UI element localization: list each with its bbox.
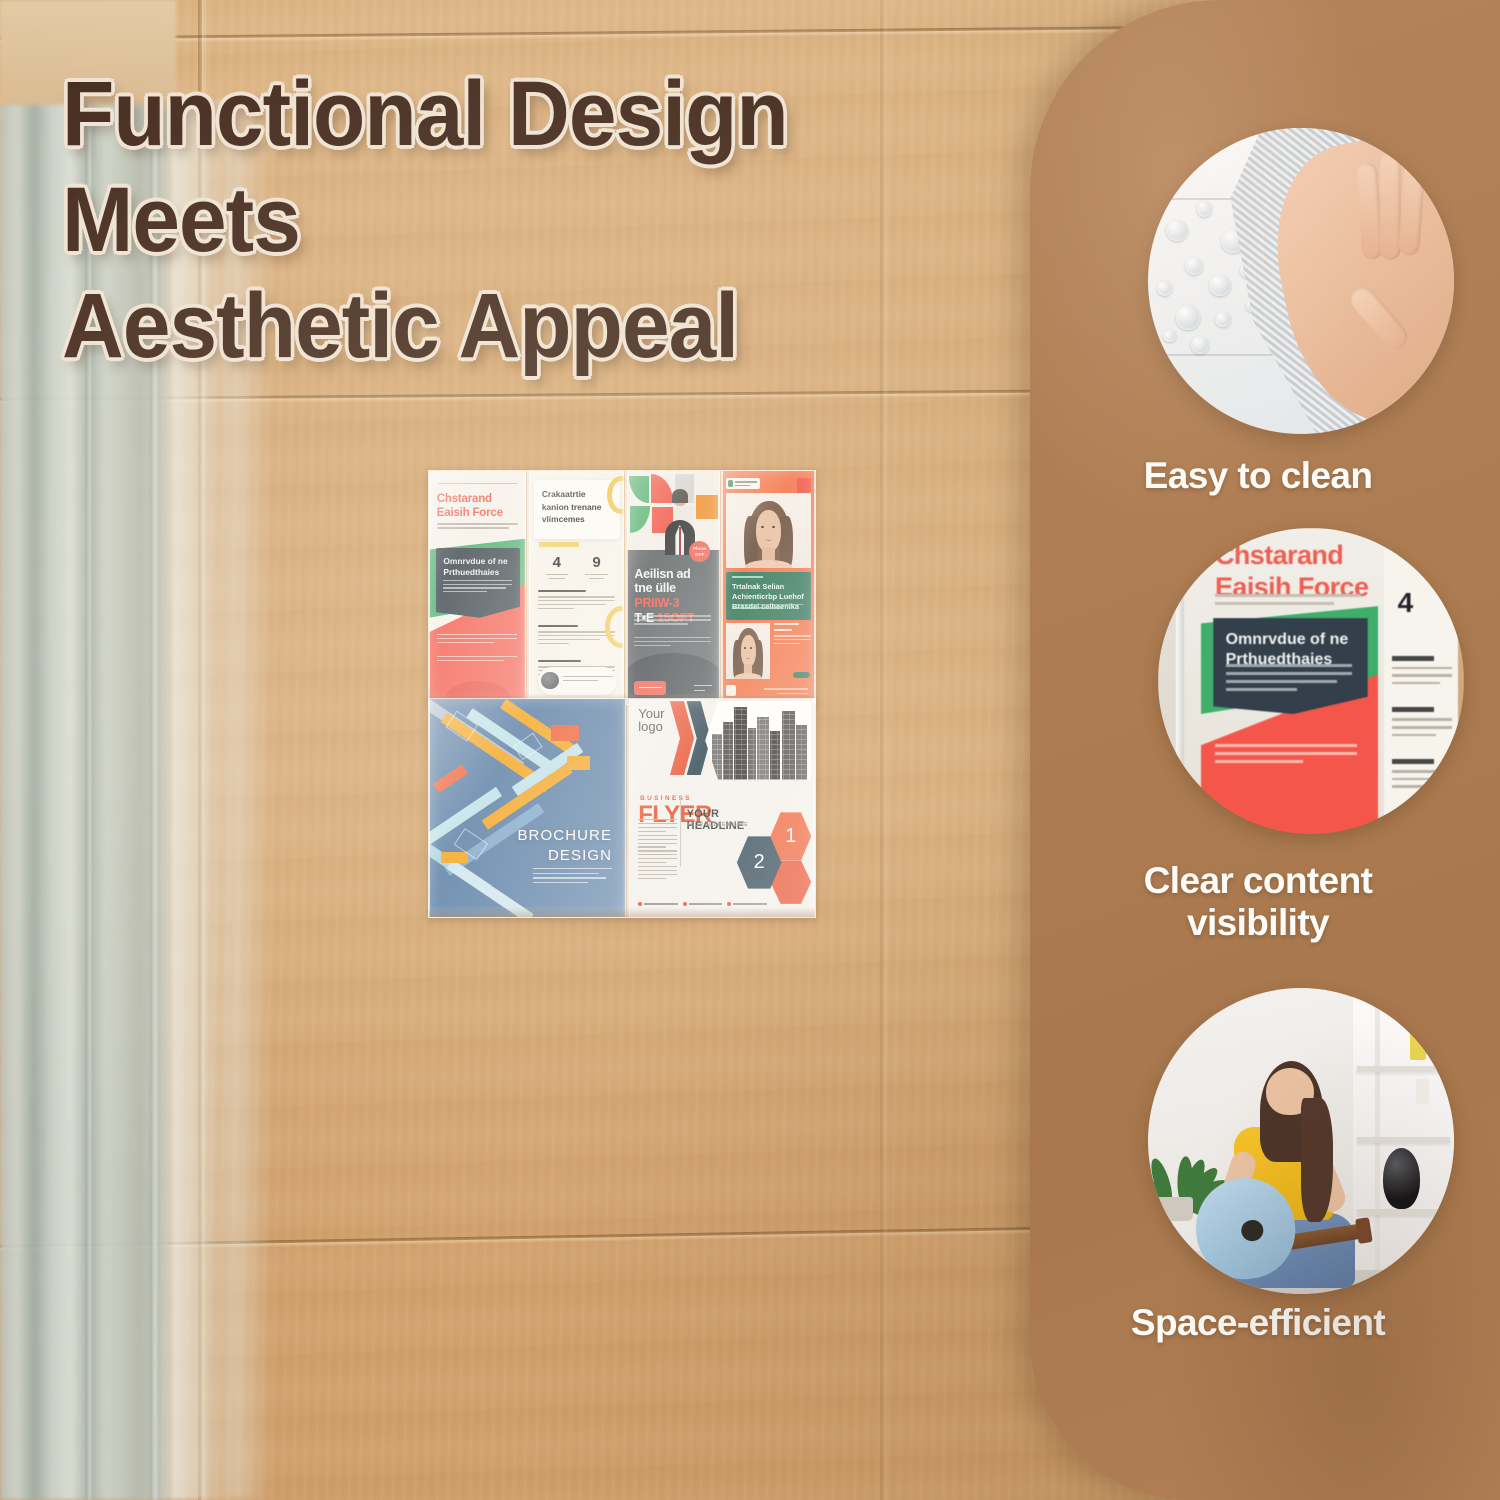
product-marketing-image: Functional Design Meets Aesthetic Appeal… xyxy=(0,0,1500,1500)
panel-sheen xyxy=(1030,0,1500,1500)
feature-panel: Easy to clean Chstarand Eaisih Force Omn… xyxy=(1030,0,1500,1500)
